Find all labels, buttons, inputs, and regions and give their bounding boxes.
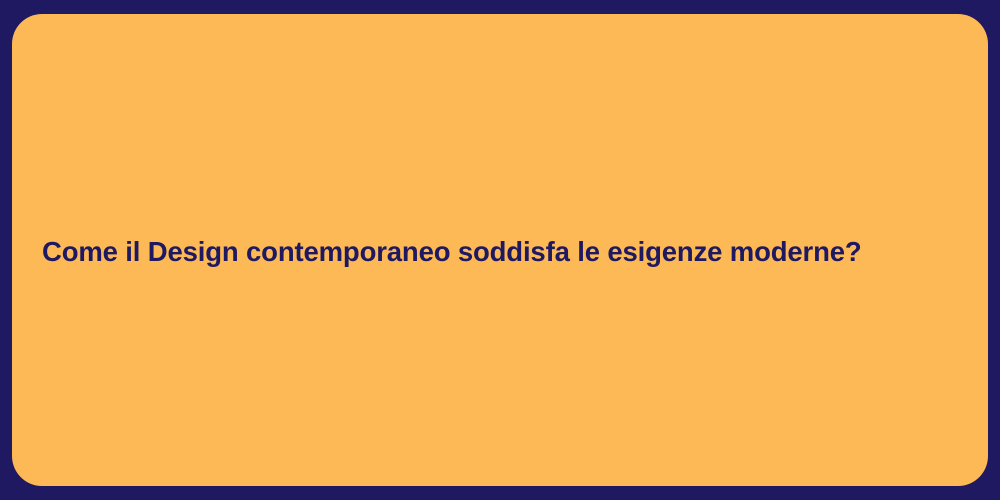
content-card: Come il Design contemporaneo soddisfa le… <box>12 14 988 486</box>
page-frame: Come il Design contemporaneo soddisfa le… <box>0 0 1000 500</box>
headline-text: Come il Design contemporaneo soddisfa le… <box>42 235 862 268</box>
